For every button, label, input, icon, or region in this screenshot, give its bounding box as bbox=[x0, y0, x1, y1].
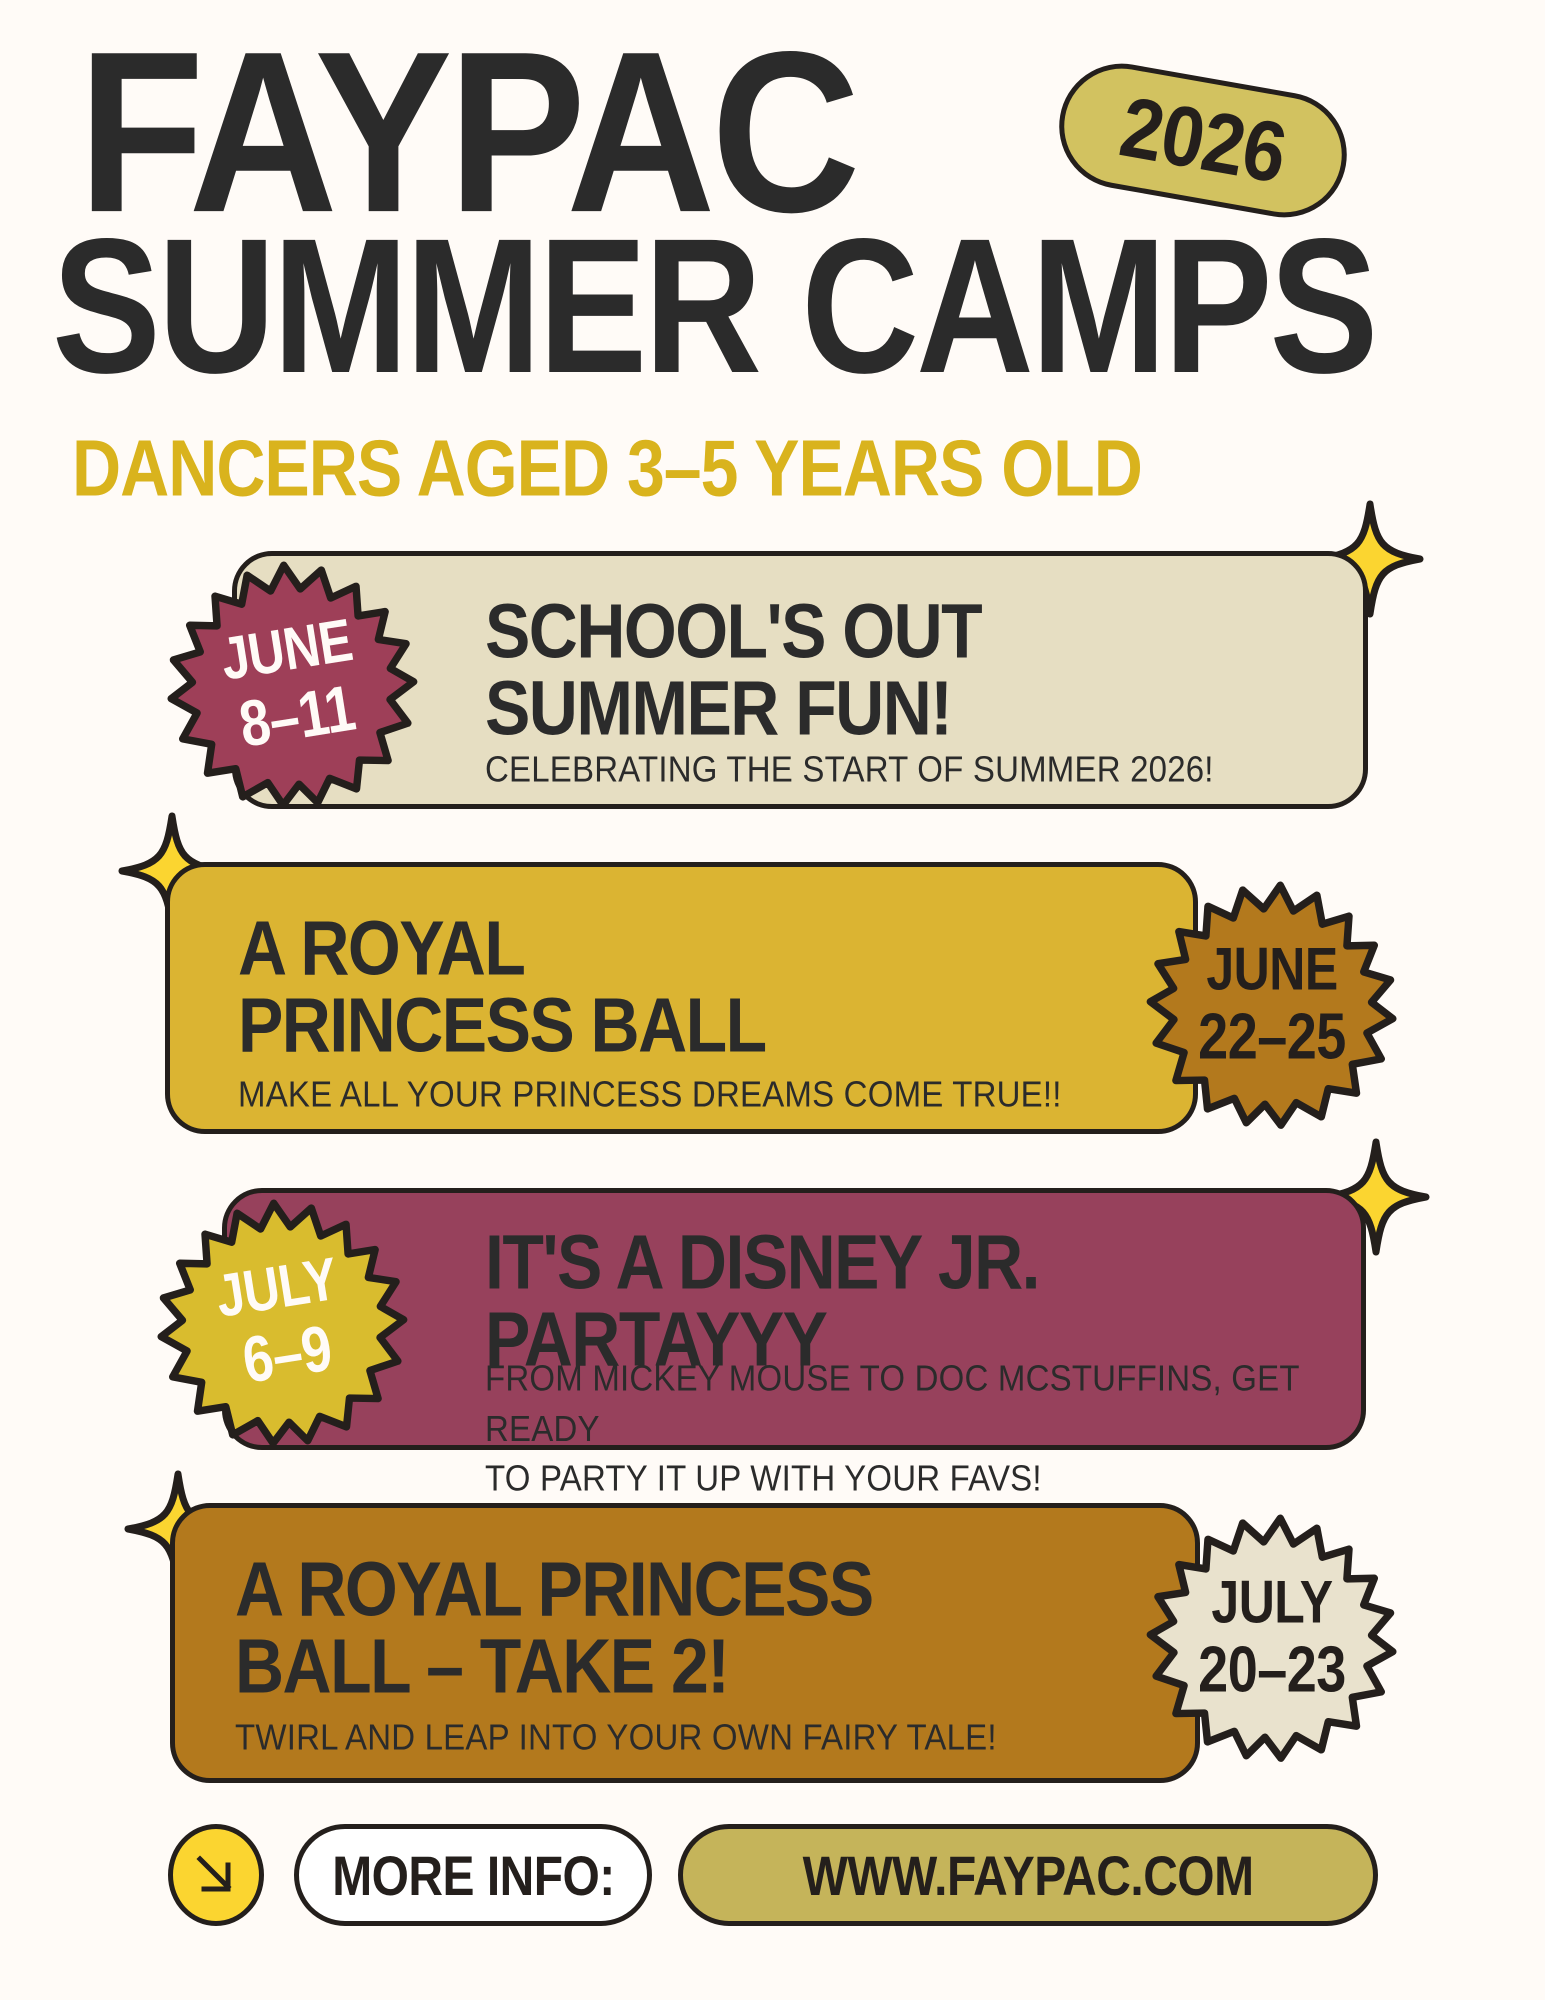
poster-header: FAYPAC 2026 SUMMER CAMPS DANCERS AGED 3–… bbox=[0, 0, 1545, 520]
camp-card-3-date-badge: JULY 6–9 bbox=[150, 1190, 415, 1455]
website-pill[interactable]: WWW.FAYPAC.COM bbox=[678, 1824, 1378, 1926]
camp-card-4[interactable]: A ROYAL PRINCESS BALL – TAKE 2! TWIRL AN… bbox=[170, 1503, 1200, 1783]
poster-root: FAYPAC 2026 SUMMER CAMPS DANCERS AGED 3–… bbox=[0, 0, 1545, 2000]
arrow-down-right-icon bbox=[168, 1824, 264, 1926]
page-subtitle: DANCERS AGED 3–5 YEARS OLD bbox=[72, 428, 1142, 508]
camp-card-1-date-badge: JUNE 8–11 bbox=[160, 552, 425, 817]
camp-card-2-title: A ROYAL PRINCESS BALL bbox=[238, 909, 766, 1063]
camp-card-1-title: SCHOOL'S OUT SUMMER FUN! bbox=[485, 592, 981, 746]
camp-card-4-description: TWIRL AND LEAP INTO YOUR OWN FAIRY TALE! bbox=[235, 1712, 997, 1762]
camp-card-4-date-badge: JULY 20–23 bbox=[1140, 1505, 1405, 1770]
camp-card-2-date-badge: JUNE 22–25 bbox=[1140, 872, 1405, 1137]
poster-footer: MORE INFO: WWW.FAYPAC.COM bbox=[0, 1818, 1545, 1938]
camp-card-3-description: FROM MICKEY MOUSE TO DOC MCSTUFFINS, GET… bbox=[485, 1353, 1361, 1503]
year-badge-label: 2026 bbox=[1113, 78, 1292, 203]
page-title-line2: SUMMER CAMPS bbox=[52, 210, 1375, 402]
camp-card-2-description: MAKE ALL YOUR PRINCESS DREAMS COME TRUE!… bbox=[238, 1069, 1062, 1119]
camp-card-1-description: CELEBRATING THE START OF SUMMER 2026! bbox=[485, 744, 1214, 794]
camp-card-2[interactable]: A ROYAL PRINCESS BALL MAKE ALL YOUR PRIN… bbox=[165, 862, 1198, 1134]
camp-card-4-title: A ROYAL PRINCESS BALL – TAKE 2! bbox=[235, 1550, 873, 1704]
website-label: WWW.FAYPAC.COM bbox=[803, 1843, 1254, 1908]
more-info-pill: MORE INFO: bbox=[294, 1824, 652, 1926]
more-info-label: MORE INFO: bbox=[332, 1843, 615, 1908]
